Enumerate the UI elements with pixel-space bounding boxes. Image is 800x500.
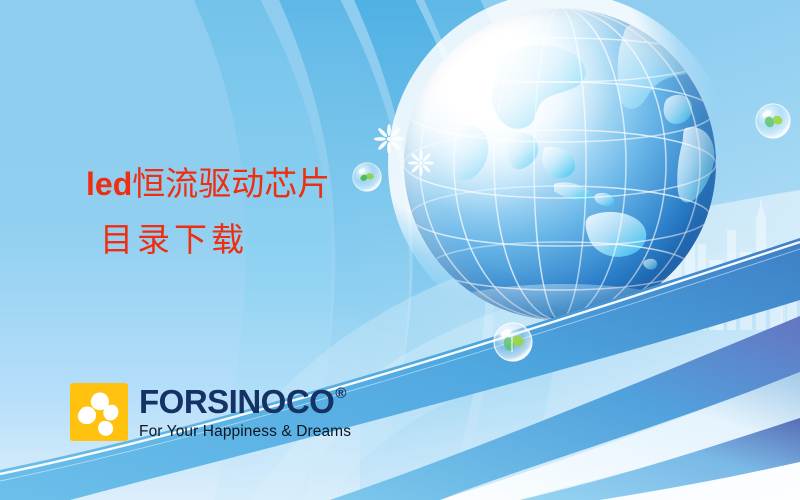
headline-line-1: led恒流驱动芯片 <box>86 164 416 206</box>
globe-sphere <box>404 8 716 320</box>
logo-tagline: For Your Happiness & Dreams <box>139 424 351 440</box>
logo-name-text: FORSINOCO <box>139 385 334 418</box>
logo-name: FORSINOCO® <box>139 385 351 418</box>
promo-banner: led恒流驱动芯片 目录下载 FORSINOCO® For <box>0 0 800 500</box>
logo-text-block: FORSINOCO® For Your Happiness & Dreams <box>139 385 351 440</box>
headline-cjk-text: 恒流驱动芯片 <box>132 167 330 203</box>
headline: led恒流驱动芯片 目录下载 <box>86 164 416 262</box>
earth-globe-icon <box>404 8 716 320</box>
sparkle-flower-1 <box>374 124 404 154</box>
four-petal-pinwheel-icon <box>70 383 128 441</box>
headline-latin-prefix: led <box>86 166 132 202</box>
brand-logo: FORSINOCO® For Your Happiness & Dreams <box>70 383 351 441</box>
registered-trademark-icon: ® <box>335 386 346 401</box>
headline-line-2: 目录下载 <box>100 220 416 262</box>
bubble-leaf-3 <box>755 103 791 139</box>
bubble-leaf-2 <box>493 322 533 362</box>
